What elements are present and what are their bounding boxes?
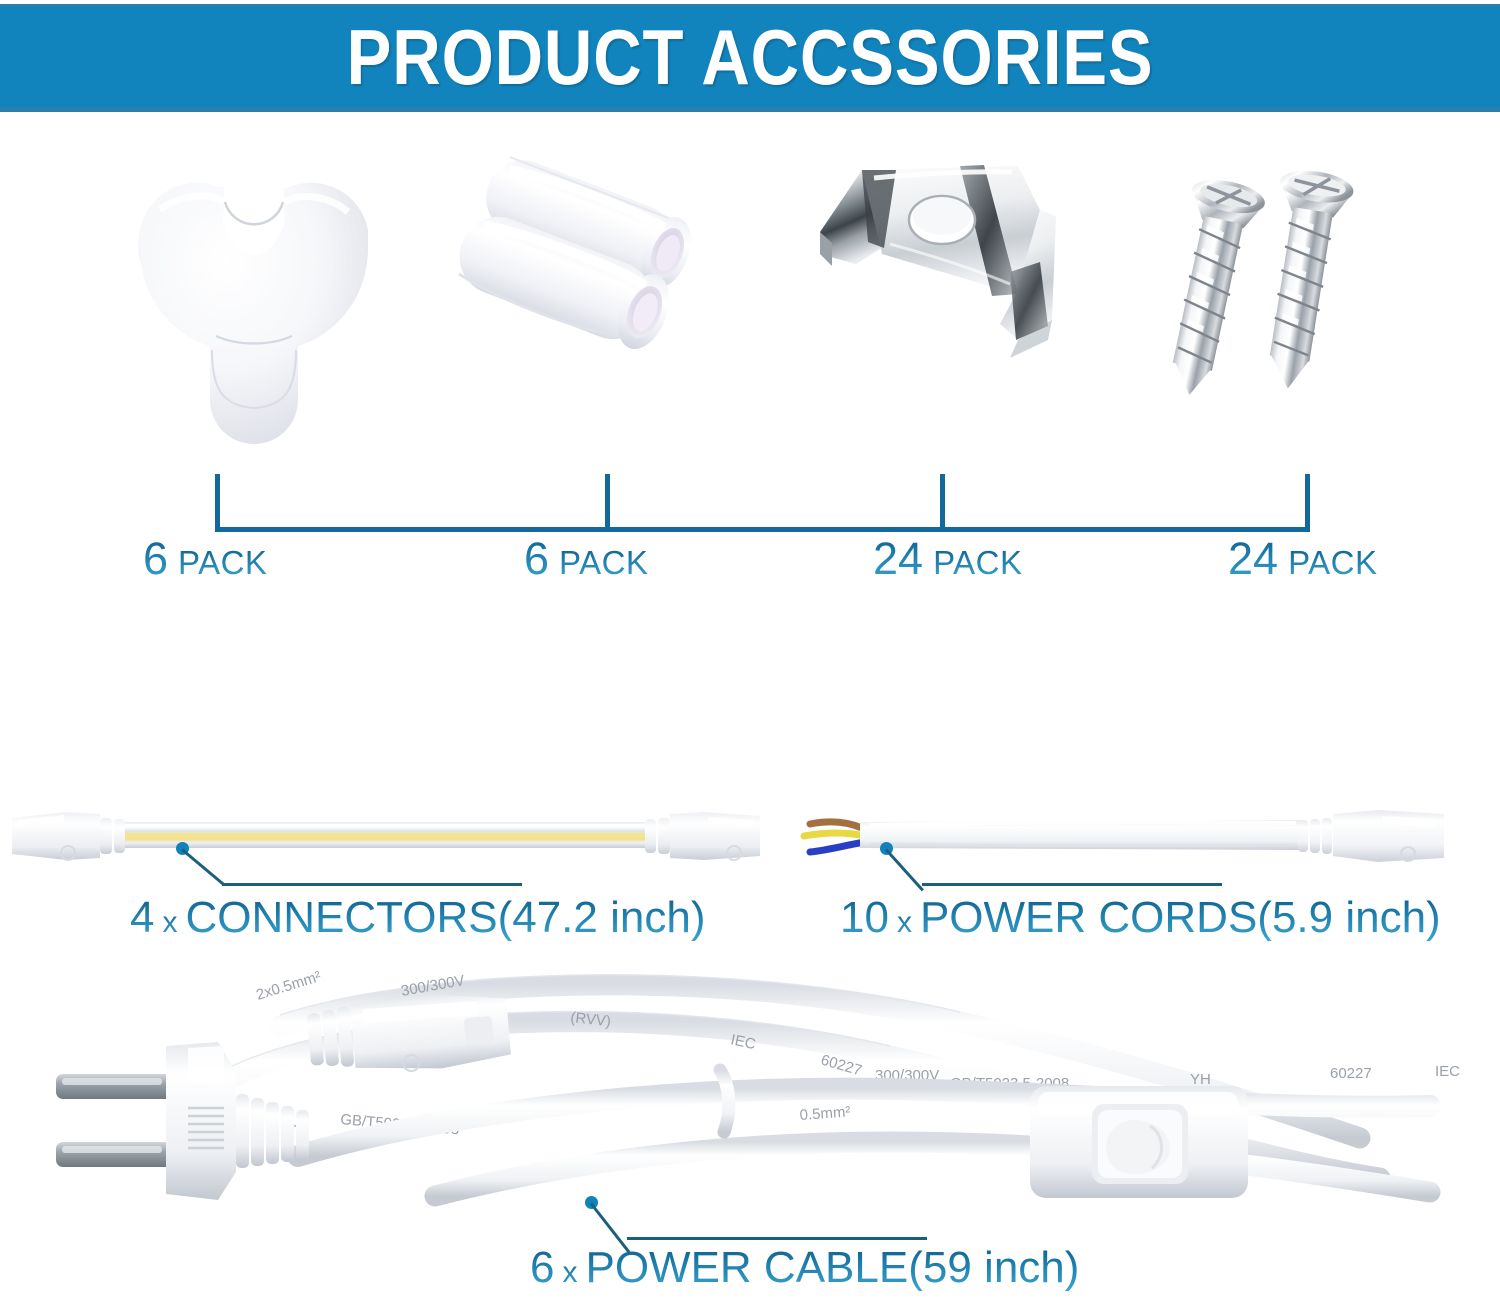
part-item-tube-mount-clip	[450, 130, 780, 470]
pack-quantity: 6	[524, 533, 549, 584]
trefoil-clip-icon	[100, 130, 410, 450]
part-item-metal-bracket	[800, 130, 1080, 470]
plastic-tube-clip-icon	[450, 130, 780, 450]
pack-label-screws: 24PACK	[1228, 536, 1377, 581]
callout-leader-line	[885, 848, 924, 891]
bracket-tick-4	[1305, 474, 1310, 532]
callout-underline	[627, 1237, 927, 1240]
cable-description: CONNECTORS(47.2 inch)	[185, 893, 705, 942]
cable-quantity: 6	[530, 1243, 554, 1292]
bracket-baseline	[215, 527, 1310, 532]
parts-bracket	[215, 470, 1310, 532]
cable-description: POWER CABLE(59 inch)	[585, 1243, 1079, 1292]
caption-power-cords: 10xPOWER CORDS(5.9 inch)	[840, 896, 1441, 940]
cable-separator: x	[162, 906, 177, 939]
cable-description: POWER CORDS(5.9 inch)	[920, 893, 1441, 942]
svg-text:0.5mm²: 0.5mm²	[799, 1103, 851, 1124]
pack-quantity: 6	[143, 533, 168, 584]
cable-item-power-cable: 2x0.5mm² 300/300V (RVV) IEC 60227 GB/T50…	[30, 960, 1480, 1210]
callout-underline	[922, 883, 1222, 886]
pack-label-tube-end-cap: 6PACK	[143, 536, 267, 581]
pack-unit: PACK	[559, 544, 648, 581]
callout-leader-line	[181, 848, 225, 886]
part-item-screws	[1160, 130, 1440, 470]
pack-quantity: 24	[1228, 533, 1278, 584]
caption-connectors: 4xCONNECTORS(47.2 inch)	[130, 896, 705, 940]
callout-connectors	[176, 842, 536, 890]
bracket-tick-3	[940, 474, 945, 532]
pack-label-metal-bracket: 24PACK	[873, 536, 1022, 581]
pack-unit: PACK	[1288, 544, 1377, 581]
bracket-tick-2	[605, 474, 610, 532]
page-header-banner: PRODUCT ACCSSORIES	[0, 4, 1500, 112]
part-item-tube-end-cap	[100, 130, 410, 470]
callout-power-cable	[585, 1196, 945, 1244]
pack-unit: PACK	[933, 544, 1022, 581]
power-cable-with-switch-icon: 2x0.5mm² 300/300V (RVV) IEC 60227 GB/T50…	[30, 960, 1480, 1210]
svg-text:YH: YH	[1190, 1071, 1211, 1088]
callout-power-cords	[880, 842, 1240, 890]
page-title: PRODUCT ACCSSORIES	[347, 18, 1154, 96]
svg-text:60227: 60227	[1330, 1065, 1372, 1082]
metal-mounting-bracket-icon	[800, 130, 1080, 450]
bracket-tick-1	[215, 474, 220, 532]
screws-icon	[1160, 130, 1440, 450]
pack-quantity: 24	[873, 533, 923, 584]
callout-underline	[222, 883, 522, 886]
pack-unit: PACK	[178, 544, 267, 581]
svg-text:2x0.5mm²: 2x0.5mm²	[254, 968, 323, 1004]
cable-separator: x	[562, 1256, 577, 1289]
pack-label-tube-mount-clip: 6PACK	[524, 536, 648, 581]
cable-separator: x	[897, 906, 912, 939]
caption-power-cable: 6xPOWER CABLE(59 inch)	[530, 1246, 1079, 1290]
svg-text:IEC: IEC	[1435, 1063, 1460, 1080]
cable-quantity: 10	[840, 893, 889, 942]
cable-quantity: 4	[130, 893, 154, 942]
